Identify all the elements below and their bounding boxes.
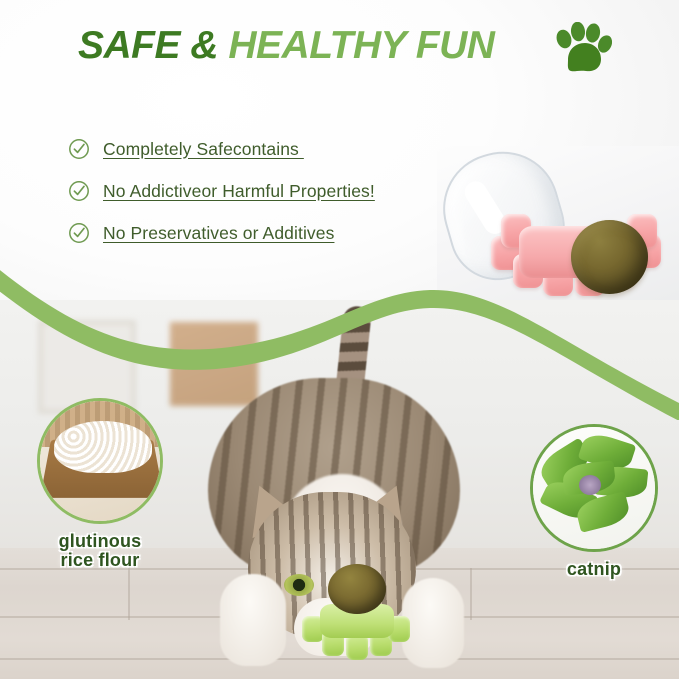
product-photo — [437, 146, 679, 311]
cat-paw-right — [402, 578, 464, 668]
ingredient-label-line-1: catnip — [526, 560, 662, 579]
feature-list: Completely Safecontains No Addictiveor H… — [68, 128, 468, 254]
ingredient-image-rice-flour — [37, 398, 163, 524]
feature-item-1: No Addictiveor Harmful Properties! — [68, 170, 468, 212]
cat-paw-left — [220, 574, 286, 666]
ingredient-badge-catnip: catnip — [526, 424, 662, 579]
feature-item-label: No Addictiveor Harmful Properties! — [103, 181, 375, 202]
product-feature-poster: SAFE & HEALTHY FUN Completely Safecontai… — [0, 0, 679, 679]
catnip-leaf-art — [533, 427, 655, 549]
ingredient-label-catnip: catnip — [526, 560, 662, 579]
feature-item-label: Completely Safecontains — [103, 139, 304, 160]
green-catnip-toy — [300, 590, 410, 662]
ingredient-image-catnip — [530, 424, 658, 552]
check-circle-icon — [68, 180, 90, 202]
check-circle-icon — [68, 222, 90, 244]
toy-catnip-ball — [328, 564, 386, 614]
rice-flour-art — [40, 401, 160, 521]
title-part-safe: SAFE & — [78, 24, 228, 67]
title-part-healthy-fun: HEALTHY FUN — [228, 24, 494, 67]
feature-item-0: Completely Safecontains — [68, 128, 468, 170]
catnip-ball — [571, 220, 648, 294]
page-title: SAFE & HEALTHY FUN — [78, 26, 494, 65]
check-circle-icon — [68, 138, 90, 160]
rice-flour-pile — [54, 421, 152, 473]
catnip-flower-center — [579, 475, 601, 495]
paw-print-icon — [556, 22, 612, 74]
floor-plank-line — [128, 568, 130, 620]
ingredient-label-rice-flour: glutinous rice flour — [28, 532, 172, 571]
ingredient-badge-glutinous-rice-flour: glutinous rice flour — [28, 398, 172, 571]
ingredient-label-line-1: glutinous — [28, 532, 172, 551]
ingredient-label-line-2: rice flour — [28, 551, 172, 570]
feature-item-2: No Preservatives or Additives — [68, 212, 468, 254]
pink-flower-base — [489, 206, 669, 306]
feature-item-label: No Preservatives or Additives — [103, 223, 334, 244]
